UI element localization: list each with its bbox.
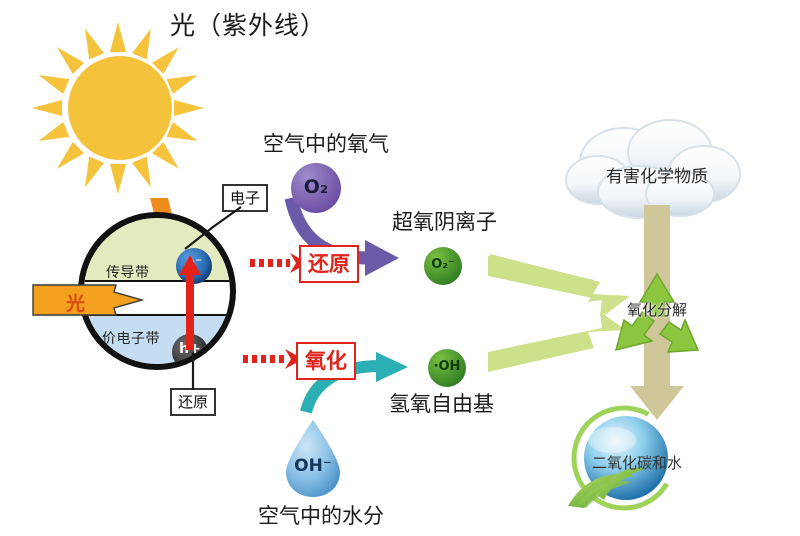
- excitation-arrow-icon: [185, 255, 195, 350]
- reduction-label-box: 还原: [299, 245, 359, 283]
- globe-label: 二氧化碳和水: [562, 452, 712, 473]
- cloud-label: 有害化学物质: [562, 162, 752, 187]
- water-droplet-icon: OH⁻: [282, 420, 344, 498]
- photocatalysis-diagram: 光（紫外线） 传导带 价电子带 e⁻: [0, 0, 800, 536]
- oxidation-label-box: 氧化: [296, 342, 356, 380]
- oxygen-symbol: O₂: [291, 176, 341, 198]
- moisture-in-air-label: 空气中的水分: [258, 500, 384, 530]
- co2-water-globe-icon: 二氧化碳和水: [562, 400, 712, 530]
- water-symbol: OH⁻: [282, 456, 344, 476]
- oxygen-molecule: O₂: [291, 163, 341, 213]
- superoxide-label: 超氧阴离子: [392, 206, 497, 236]
- oxygen-in-air-label: 空气中的氧气: [263, 128, 389, 158]
- hydroxyl-symbol: ·OH: [428, 359, 466, 374]
- reduction-callout-leader: [188, 352, 198, 390]
- hydroxyl-radical-label: 氢氧自由基: [389, 388, 494, 418]
- light-input-arrow: 光: [32, 282, 144, 318]
- superoxide-molecule: O₂⁻: [424, 247, 462, 285]
- valence-band-label: 价电子带: [102, 328, 160, 348]
- light-arrow-label: 光: [66, 289, 85, 316]
- oxidative-decomposition-label: 氧化分解: [605, 299, 709, 320]
- sun-icon: [18, 8, 218, 208]
- sun-core: [68, 56, 172, 160]
- conduction-band-label: 传导带: [106, 262, 150, 282]
- electron-callout-leader: [183, 205, 243, 253]
- superoxide-symbol: O₂⁻: [424, 257, 462, 272]
- reduction-callout: 还原: [170, 388, 216, 416]
- hydroxyl-radical-molecule: ·OH: [428, 349, 466, 387]
